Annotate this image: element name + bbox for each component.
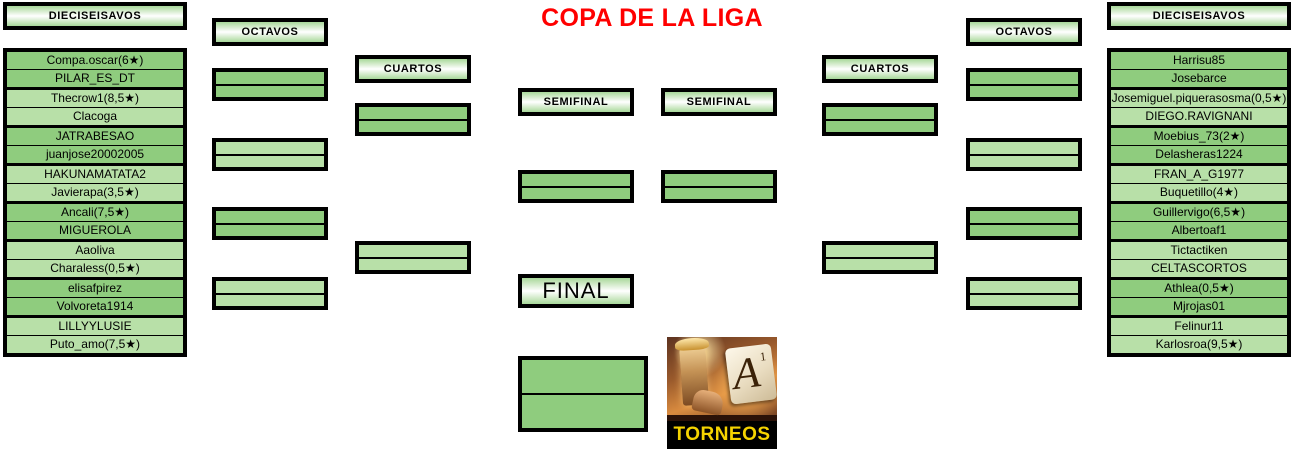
match-cuartos-left-1[interactable] <box>355 103 471 136</box>
seed-pair: Harrisu85 Josebarce <box>1111 52 1287 87</box>
seed-cell[interactable]: Guillervigo(6,5★) <box>1111 204 1287 221</box>
match-slot[interactable] <box>826 245 934 257</box>
seed-cell[interactable]: HAKUNAMATATA2 <box>7 166 183 183</box>
match-slot[interactable] <box>665 174 773 186</box>
match-slot[interactable] <box>826 107 934 119</box>
seed-cell[interactable]: Javierapa(3,5★) <box>7 183 183 201</box>
seed-cell[interactable]: Clacoga <box>7 107 183 125</box>
seed-pair: Tictactiken CELTASCORTOS <box>1111 242 1287 277</box>
seed-cell[interactable]: Karlosroa(9,5★) <box>1111 335 1287 353</box>
seed-pair: Moebius_73(2★) Delasheras1224 <box>1111 128 1287 163</box>
seed-cell[interactable]: Mjrojas01 <box>1111 297 1287 315</box>
match-octavos-right-2[interactable] <box>966 138 1082 171</box>
stage-header-dieciseisavos-left: DIECISEISAVOS <box>3 2 187 30</box>
letter-tile-icon: A 1 <box>725 343 777 404</box>
match-octavos-left-4[interactable] <box>212 277 328 310</box>
match-slot[interactable] <box>522 186 630 200</box>
match-slot[interactable] <box>216 281 324 293</box>
seed-pair: Aaoliva Charaless(0,5★) <box>7 242 183 277</box>
match-cuartos-left-2[interactable] <box>355 241 471 274</box>
seed-cell[interactable]: elisafpirez <box>7 280 183 297</box>
tile-superscript: 1 <box>759 349 767 365</box>
match-slot[interactable] <box>216 293 324 307</box>
seed-cell[interactable]: Athlea(0,5★) <box>1111 280 1287 297</box>
match-slot[interactable] <box>522 360 644 393</box>
match-slot[interactable] <box>826 257 934 271</box>
seed-cell[interactable]: MIGUEROLA <box>7 221 183 239</box>
match-slot[interactable] <box>970 211 1078 223</box>
roster-right: Harrisu85 Josebarce Josemiguel.piqueraso… <box>1107 48 1291 357</box>
seed-cell[interactable]: Albertoaf1 <box>1111 221 1287 239</box>
match-final[interactable] <box>518 356 648 432</box>
seed-pair: Felinur11 Karlosroa(9,5★) <box>1111 318 1287 353</box>
match-slot[interactable] <box>216 223 324 237</box>
seed-pair: HAKUNAMATATA2 Javierapa(3,5★) <box>7 166 183 201</box>
match-slot[interactable] <box>665 186 773 200</box>
match-octavos-right-1[interactable] <box>966 68 1082 101</box>
match-octavos-left-3[interactable] <box>212 207 328 240</box>
seed-cell[interactable]: Delasheras1224 <box>1111 145 1287 163</box>
stage-header-octavos-right: OCTAVOS <box>966 18 1082 46</box>
stage-header-octavos-left: OCTAVOS <box>212 18 328 46</box>
match-slot[interactable] <box>970 84 1078 98</box>
seed-pair: Ancali(7,5★) MIGUEROLA <box>7 204 183 239</box>
seed-cell[interactable]: Moebius_73(2★) <box>1111 128 1287 145</box>
seed-cell[interactable]: Josemiguel.piquerasosma(0,5★) <box>1111 90 1287 107</box>
stage-header-cuartos-left: CUARTOS <box>355 55 471 83</box>
stage-header-semifinal-left: SEMIFINAL <box>518 88 634 116</box>
seed-cell[interactable]: LILLYYLUSIE <box>7 318 183 335</box>
seed-cell[interactable]: JATRABESAO <box>7 128 183 145</box>
match-slot[interactable] <box>826 119 934 133</box>
seed-pair: Athlea(0,5★) Mjrojas01 <box>1111 280 1287 315</box>
seed-pair: Guillervigo(6,5★) Albertoaf1 <box>1111 204 1287 239</box>
match-slot[interactable] <box>359 107 467 119</box>
seed-cell[interactable]: Compa.oscar(6★) <box>7 52 183 69</box>
stage-header-semifinal-right: SEMIFINAL <box>661 88 777 116</box>
hand-icon <box>691 388 725 416</box>
seed-cell[interactable]: Volvoreta1914 <box>7 297 183 315</box>
logo-artwork: A 1 <box>667 337 777 415</box>
match-slot[interactable] <box>522 174 630 186</box>
seed-pair: JATRABESAO juanjose20002005 <box>7 128 183 163</box>
seed-pair: Compa.oscar(6★) PILAR_ES_DT <box>7 52 183 87</box>
match-slot[interactable] <box>970 293 1078 307</box>
match-semifinal-right[interactable] <box>661 170 777 203</box>
seed-cell[interactable]: PILAR_ES_DT <box>7 69 183 87</box>
match-cuartos-right-1[interactable] <box>822 103 938 136</box>
seed-cell[interactable]: CELTASCORTOS <box>1111 259 1287 277</box>
match-slot[interactable] <box>970 72 1078 84</box>
seed-cell[interactable]: Charaless(0,5★) <box>7 259 183 277</box>
match-slot[interactable] <box>216 211 324 223</box>
seed-cell[interactable]: Harrisu85 <box>1111 52 1287 69</box>
seed-pair: Josemiguel.piquerasosma(0,5★) DIEGO.RAVI… <box>1111 90 1287 125</box>
seed-pair: Thecrow1(8,5★) Clacoga <box>7 90 183 125</box>
page-title: COPA DE LA LIGA <box>487 4 817 33</box>
stage-header-cuartos-right: CUARTOS <box>822 55 938 83</box>
match-octavos-right-4[interactable] <box>966 277 1082 310</box>
match-slot[interactable] <box>359 245 467 257</box>
seed-cell[interactable]: FRAN_A_G1977 <box>1111 166 1287 183</box>
match-slot[interactable] <box>359 119 467 133</box>
stage-header-final: FINAL <box>518 274 634 308</box>
seed-pair: LILLYYLUSIE Puto_amo(7,5★) <box>7 318 183 353</box>
seed-pair: FRAN_A_G1977 Buquetillo(4★) <box>1111 166 1287 201</box>
seed-cell[interactable]: Josebarce <box>1111 69 1287 87</box>
match-slot[interactable] <box>522 393 644 428</box>
stage-header-dieciseisavos-right: DIECISEISAVOS <box>1107 2 1291 30</box>
torneos-logo: A 1 TORNEOS <box>667 337 777 449</box>
seed-cell[interactable]: Puto_amo(7,5★) <box>7 335 183 353</box>
match-octavos-left-1[interactable] <box>212 68 328 101</box>
seed-cell[interactable]: Thecrow1(8,5★) <box>7 90 183 107</box>
match-semifinal-left[interactable] <box>518 170 634 203</box>
match-octavos-left-2[interactable] <box>212 138 328 171</box>
seed-cell[interactable]: Felinur11 <box>1111 318 1287 335</box>
match-octavos-right-3[interactable] <box>966 207 1082 240</box>
match-slot[interactable] <box>970 223 1078 237</box>
roster-left: Compa.oscar(6★) PILAR_ES_DT Thecrow1(8,5… <box>3 48 187 357</box>
seed-cell[interactable]: Buquetillo(4★) <box>1111 183 1287 201</box>
match-slot[interactable] <box>970 142 1078 154</box>
match-slot[interactable] <box>216 142 324 154</box>
seed-cell[interactable]: Tictactiken <box>1111 242 1287 259</box>
match-slot[interactable] <box>216 84 324 98</box>
match-slot[interactable] <box>970 281 1078 293</box>
seed-cell[interactable]: Ancali(7,5★) <box>7 204 183 221</box>
match-slot[interactable] <box>216 154 324 168</box>
tile-letter: A <box>730 346 763 401</box>
match-slot[interactable] <box>970 154 1078 168</box>
seed-pair: elisafpirez Volvoreta1914 <box>7 280 183 315</box>
match-slot[interactable] <box>216 72 324 84</box>
match-slot[interactable] <box>359 257 467 271</box>
seed-cell[interactable]: juanjose20002005 <box>7 145 183 163</box>
seed-cell[interactable]: Aaoliva <box>7 242 183 259</box>
seed-cell[interactable]: DIEGO.RAVIGNANI <box>1111 107 1287 125</box>
match-cuartos-right-2[interactable] <box>822 241 938 274</box>
logo-caption: TORNEOS <box>667 421 777 449</box>
